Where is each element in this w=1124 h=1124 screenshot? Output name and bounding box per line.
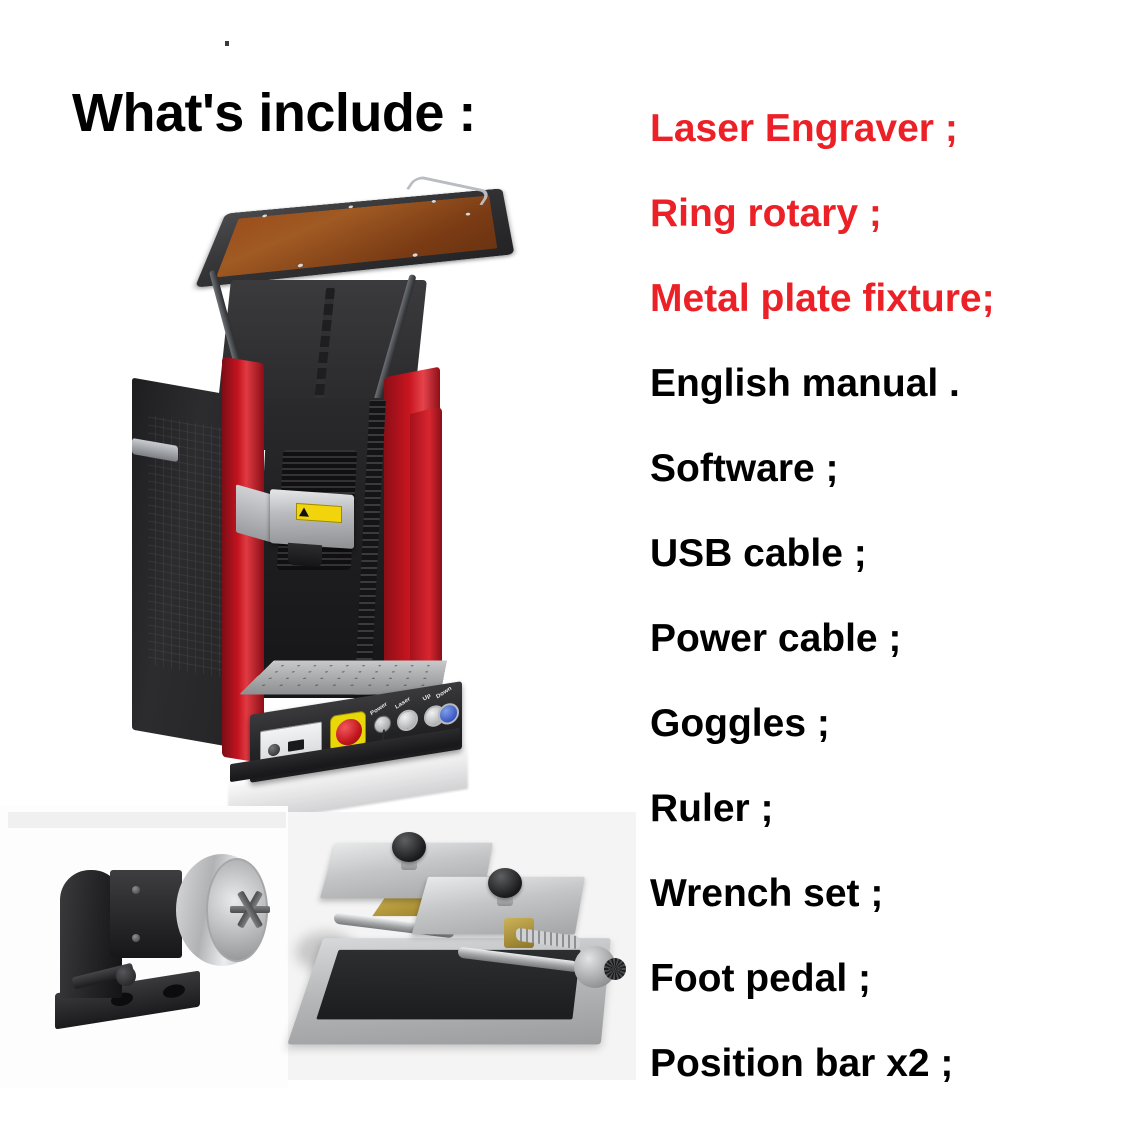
clamp-knob	[488, 868, 522, 898]
control-knob	[268, 743, 280, 757]
laser-engraver-photo: Power Laser Up Down	[110, 160, 580, 800]
key-switch	[374, 714, 391, 734]
laser-focus-lens	[288, 543, 322, 567]
fixture-base	[287, 938, 611, 1044]
rotary-chuck	[176, 854, 268, 966]
up-button-label: Up	[422, 693, 432, 703]
red-body-wing	[410, 406, 442, 684]
clamp-knob	[392, 832, 426, 862]
rotary-photo-band	[8, 812, 286, 828]
up-button	[438, 702, 459, 726]
down-button-label: Down	[436, 686, 453, 700]
list-item: Laser Engraver ;	[650, 86, 1120, 171]
list-item: Power cable ;	[650, 596, 1120, 681]
list-item: Metal plate fixture;	[650, 256, 1120, 341]
image-artifact-speck	[225, 41, 229, 46]
metal-plate-fixture-photo	[288, 812, 636, 1080]
list-item: Foot pedal ;	[650, 936, 1120, 1021]
list-item: English manual .	[650, 341, 1120, 426]
rotary-shaft-cap	[116, 966, 136, 986]
rocker-switch	[288, 739, 304, 752]
rotary-motor-body	[110, 870, 182, 958]
laser-galvo-head	[270, 489, 354, 549]
rotary-bolt	[132, 886, 140, 894]
power-button	[397, 708, 418, 732]
list-item: Position bar x2 ;	[650, 1021, 1120, 1106]
list-item: Wrench set ;	[650, 851, 1120, 936]
emergency-stop-button	[336, 717, 362, 747]
laser-safety-window	[216, 196, 497, 278]
red-body-pillar-left	[222, 357, 264, 764]
list-item: Ring rotary ;	[650, 171, 1120, 256]
list-item: Software ;	[650, 426, 1120, 511]
back-wall-rib	[314, 288, 335, 403]
chuck-face	[206, 858, 268, 962]
included-items-list: Laser Engraver ; Ring rotary ; Metal pla…	[650, 86, 1120, 1106]
list-item: Ruler ;	[650, 766, 1120, 851]
enclosure-lid	[195, 188, 515, 287]
list-item: Goggles ;	[650, 681, 1120, 766]
handwheel-hub	[604, 958, 626, 980]
page-title: What's include :	[72, 82, 476, 144]
rotary-bolt	[132, 934, 140, 942]
list-item: USB cable ;	[650, 511, 1120, 596]
product-inclusions-graphic: What's include : Laser Engraver ; Ring r…	[0, 0, 1124, 1124]
laser-caution-label-icon	[296, 503, 342, 523]
table-hole-grid	[249, 663, 441, 691]
ring-rotary-photo	[0, 806, 288, 1088]
mounting-hole	[163, 983, 185, 999]
laser-button-label: Laser	[394, 696, 411, 710]
